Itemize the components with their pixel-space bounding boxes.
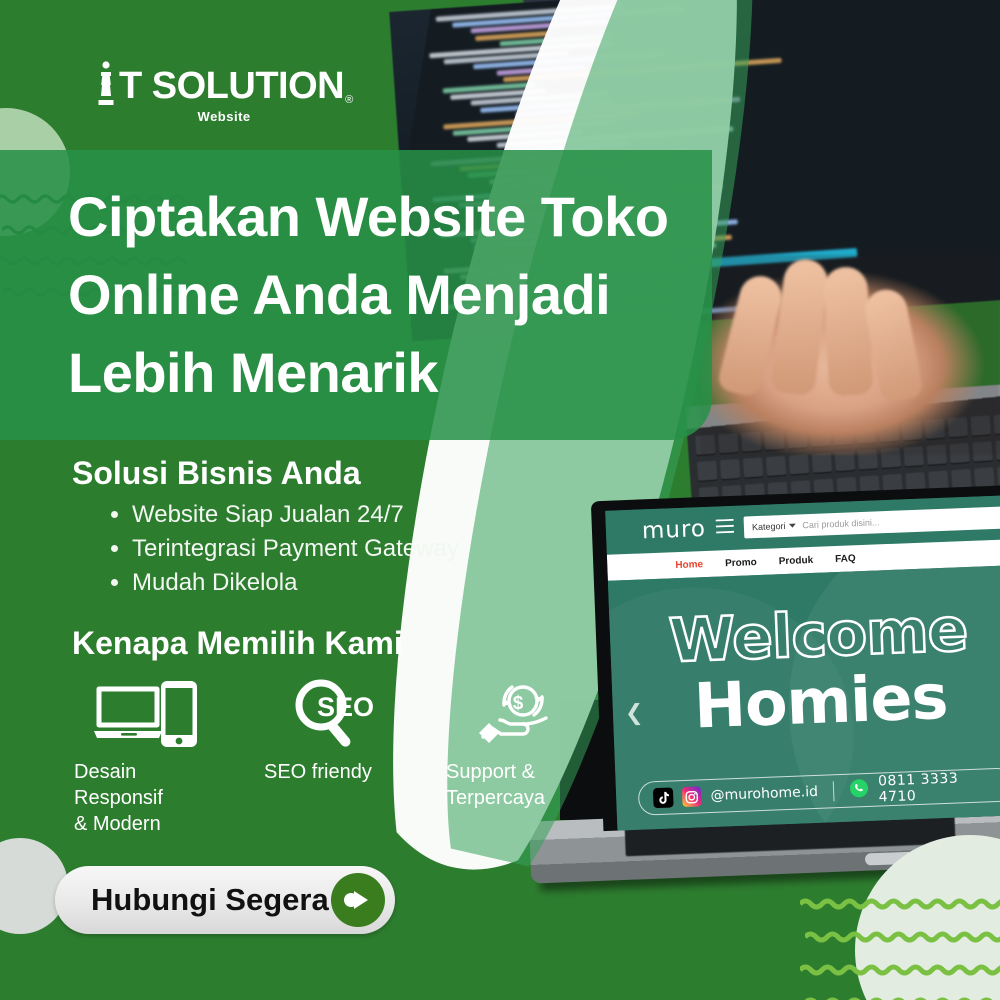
list-item: Terintegrasi Payment Gateway [132, 532, 592, 566]
wave-line [800, 895, 1000, 913]
headline-line-3: Lebih Menarik [68, 341, 438, 404]
svg-text:$: $ [513, 693, 524, 714]
contact-phone: 0811 3333 4710 [878, 769, 1000, 806]
feature-seo: SEO SEO friendy [258, 675, 408, 837]
mockup-nav-item[interactable]: Produk [779, 554, 814, 566]
why-title: Kenapa Memilih Kami [72, 625, 403, 662]
mockup-nav-item[interactable]: Promo [725, 557, 757, 569]
headline-panel: Ciptakan Website Toko Online Anda Menjad… [0, 150, 712, 440]
search-input[interactable]: Cari produk disini... [802, 517, 879, 530]
brand-logo: T SOLUTION ® Website [95, 60, 353, 124]
chevron-left-icon[interactable]: ❮ [624, 700, 643, 727]
contact-cta-button[interactable]: Hubungi Segera [55, 866, 395, 934]
promo-poster: T SOLUTION ® Website Ciptakan Website To… [0, 0, 1000, 1000]
hand-dollar-refresh-icon: $ [444, 675, 594, 753]
solutions-section: Solusi Bisnis Anda Website Siap Jualan 2… [72, 455, 592, 600]
seo-magnifier-icon: SEO [258, 675, 408, 753]
headline-line-2: Online Anda Menjadi [68, 263, 610, 326]
solutions-list: Website Siap Jualan 24/7Terintegrasi Pay… [72, 498, 592, 600]
feature-support: $ Support & Terpercaya [444, 675, 594, 837]
feature-responsive-design: Desain Responsif & Modern [72, 675, 222, 837]
logo-subtitle: Website [198, 109, 251, 124]
instagram-icon[interactable] [682, 786, 702, 807]
hamburger-menu-icon[interactable] [716, 518, 735, 538]
category-dropdown[interactable]: Kategori [752, 521, 796, 533]
cta-label: Hubungi Segera [91, 882, 329, 918]
feature-label-support: Support & Terpercaya [444, 759, 596, 811]
feature-label-responsive: Desain Responsif & Modern [72, 759, 224, 837]
feature-label-line2: & Modern [74, 813, 161, 835]
headline-line-1: Ciptakan Website Toko [68, 185, 668, 248]
laptop-phone-icon [72, 675, 222, 753]
mockup-search-bar[interactable]: Kategori Cari produk disini... [744, 506, 1000, 538]
feature-label-seo: SEO friendy [258, 759, 414, 785]
list-item: Website Siap Jualan 24/7 [132, 498, 592, 532]
mockup-nav-item[interactable]: FAQ [835, 553, 856, 565]
wave-line [805, 928, 1000, 946]
typing-hand-photo [700, 255, 1000, 455]
mockup-hero: Welcome Homies ❮ [608, 565, 1000, 831]
mockup-site-logo: muro [642, 516, 707, 544]
wave-decoration-bottom-right [800, 895, 1000, 1000]
social-handle: @murohome.id [710, 784, 818, 804]
svg-text:SEO: SEO [317, 692, 374, 722]
page-title: Ciptakan Website Toko Online Anda Menjad… [0, 178, 668, 412]
mockup-screen: muro Kategori Cari produk d [605, 495, 1000, 831]
registered-mark: ® [345, 95, 353, 106]
arrow-right-circle-icon[interactable] [331, 873, 385, 927]
website-mockup: muro Kategori Cari produk d [591, 485, 1000, 831]
feature-label-line1: Support & [446, 761, 535, 783]
feature-label-line1: Desain Responsif [74, 761, 163, 809]
wave-line [800, 961, 1000, 979]
tiktok-icon[interactable] [653, 787, 673, 808]
list-item: Mudah Dikelola [132, 566, 592, 600]
whatsapp-icon[interactable] [849, 777, 870, 803]
wave-line [805, 994, 1000, 1000]
chess-rook-letter-i-icon [95, 60, 117, 106]
feature-label-line1: SEO friendy [264, 761, 372, 783]
why-section-title-wrap: Kenapa Memilih Kami [72, 625, 403, 668]
logo-text: T SOLUTION [119, 66, 344, 106]
mockup-nav-item[interactable]: Home [675, 559, 703, 571]
features-row: Desain Responsif & Modern SEO SEO friend… [72, 675, 594, 837]
category-label: Kategori [752, 521, 786, 532]
hero-headline-solid: Homies [611, 657, 1000, 746]
feature-label-line2: Terpercaya [446, 787, 545, 809]
contact-divider [833, 781, 835, 801]
solutions-title: Solusi Bisnis Anda [72, 455, 592, 492]
chevron-down-icon [788, 521, 795, 531]
